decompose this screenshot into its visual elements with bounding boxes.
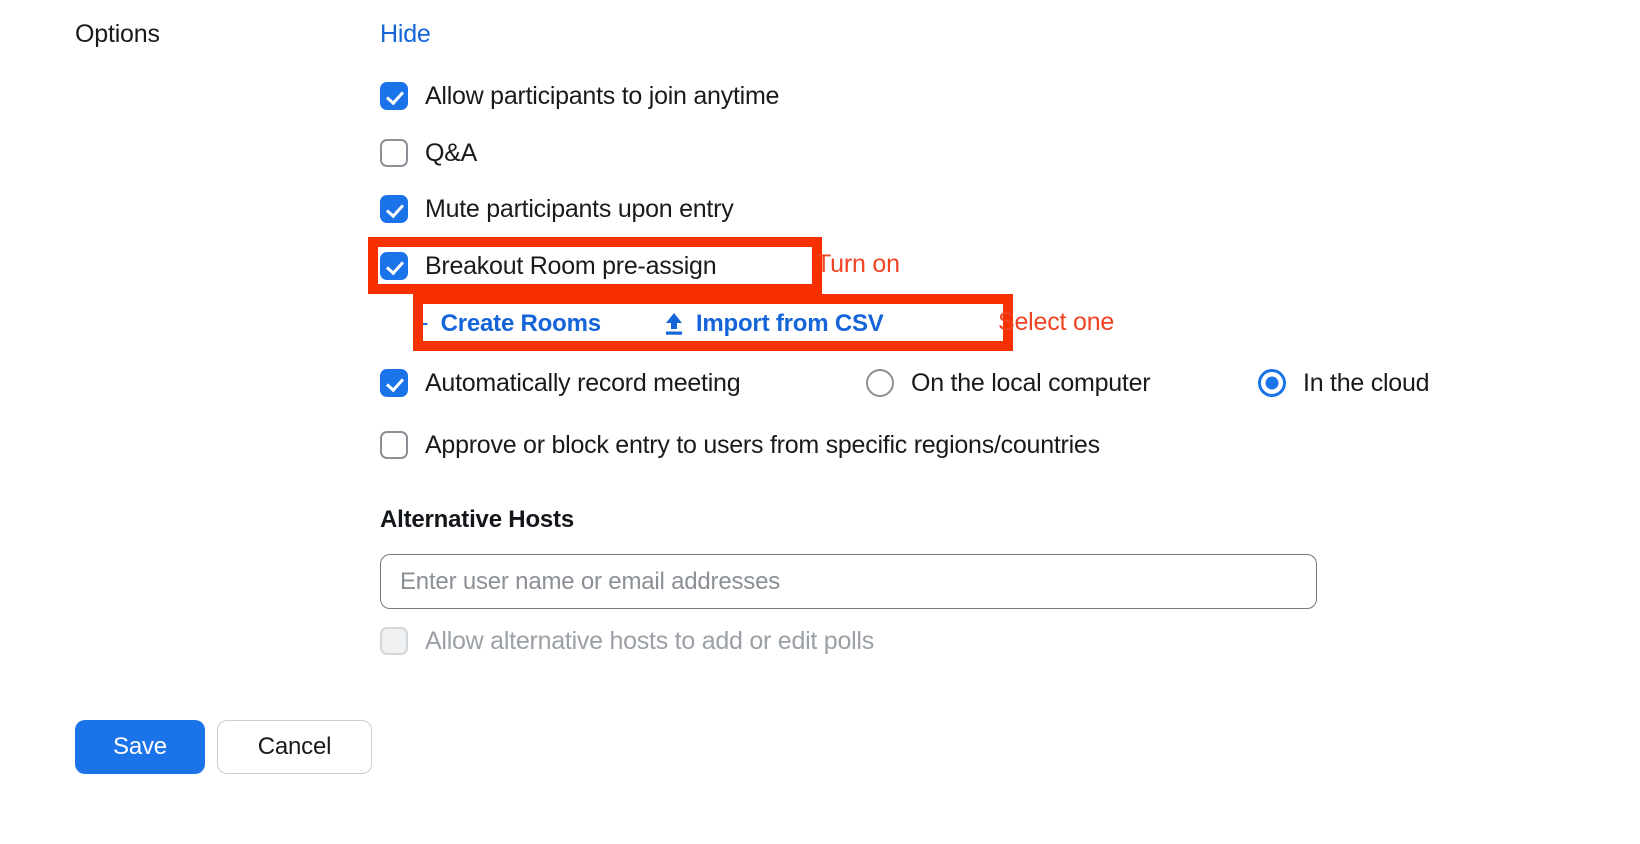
option-row-join-anytime[interactable]: Allow participants to join anytime bbox=[380, 79, 779, 113]
radio-in-the-cloud[interactable] bbox=[1258, 369, 1286, 397]
option-label-join-anytime: Allow participants to join anytime bbox=[425, 82, 779, 111]
option-row-breakout-room[interactable]: Breakout Room pre-assign bbox=[380, 249, 716, 283]
annotation-turn-on: Turn on bbox=[816, 250, 900, 279]
checkbox-qa[interactable] bbox=[380, 139, 408, 167]
plus-icon: + bbox=[413, 311, 429, 338]
radio-label-in-the-cloud: In the cloud bbox=[1303, 369, 1429, 398]
option-row-auto-record[interactable]: Automatically record meeting bbox=[380, 366, 740, 400]
checkbox-mute-on-entry[interactable] bbox=[380, 195, 408, 223]
breakout-room-actions: + Create Rooms Import from CSV bbox=[413, 306, 884, 342]
option-row-approve-block[interactable]: Approve or block entry to users from spe… bbox=[380, 428, 1100, 462]
annotation-select-one: Select one bbox=[998, 308, 1114, 337]
checkbox-auto-record[interactable] bbox=[380, 369, 408, 397]
options-panel: Options Hide Allow participants to join … bbox=[0, 0, 1640, 844]
option-label-mute-on-entry: Mute participants upon entry bbox=[425, 195, 733, 224]
option-label-auto-record: Automatically record meeting bbox=[425, 369, 740, 398]
create-rooms-button[interactable]: + Create Rooms bbox=[413, 310, 601, 338]
option-label-breakout-room: Breakout Room pre-assign bbox=[425, 252, 716, 281]
checkbox-join-anytime[interactable] bbox=[380, 82, 408, 110]
options-section-label: Options bbox=[75, 20, 160, 49]
import-from-csv-button[interactable]: Import from CSV bbox=[663, 310, 884, 338]
cancel-button[interactable]: Cancel bbox=[217, 720, 372, 774]
import-from-csv-label: Import from CSV bbox=[696, 310, 884, 338]
checkbox-breakout-room[interactable] bbox=[380, 252, 408, 280]
radio-row-local-computer[interactable]: On the local computer bbox=[866, 366, 1150, 400]
option-row-qa[interactable]: Q&A bbox=[380, 136, 477, 170]
option-row-mute-on-entry[interactable]: Mute participants upon entry bbox=[380, 192, 733, 226]
option-label-qa: Q&A bbox=[425, 139, 477, 168]
alternative-hosts-title: Alternative Hosts bbox=[380, 506, 574, 534]
hide-options-link[interactable]: Hide bbox=[380, 20, 431, 49]
upload-icon bbox=[663, 312, 685, 336]
checkbox-alt-hosts-polls bbox=[380, 627, 408, 655]
radio-row-in-the-cloud[interactable]: In the cloud bbox=[1258, 366, 1429, 400]
option-label-alt-hosts-polls: Allow alternative hosts to add or edit p… bbox=[425, 627, 874, 656]
checkbox-approve-block[interactable] bbox=[380, 431, 408, 459]
create-rooms-label: Create Rooms bbox=[441, 310, 601, 338]
radio-on-the-local-computer[interactable] bbox=[866, 369, 894, 397]
option-row-alt-hosts-polls: Allow alternative hosts to add or edit p… bbox=[380, 624, 874, 658]
alternative-hosts-input[interactable] bbox=[380, 554, 1317, 609]
option-label-approve-block: Approve or block entry to users from spe… bbox=[425, 431, 1100, 460]
radio-label-on-the-local-computer: On the local computer bbox=[911, 369, 1150, 398]
save-button[interactable]: Save bbox=[75, 720, 205, 774]
